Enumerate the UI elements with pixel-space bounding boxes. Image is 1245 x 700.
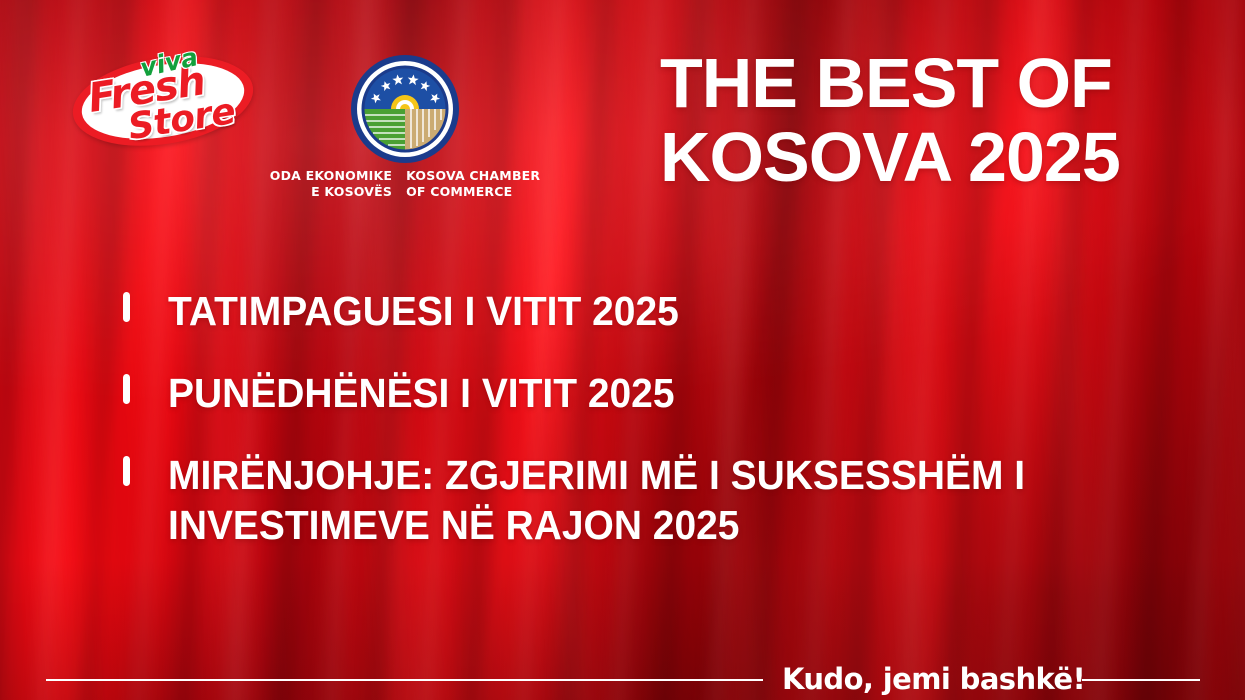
header-row: Fresh Store viva — [0, 0, 1245, 210]
chamber-caption-albanian-line2: E KOSOVËS — [270, 184, 392, 200]
kosova-chamber-of-commerce-logo: ODA EKONOMIKE E KOSOVËS KOSOVA CHAMBER O… — [286, 54, 524, 199]
chamber-emblem-icon — [350, 54, 460, 164]
page-title-line-1: THE BEST OF — [660, 46, 1220, 120]
bullet-bar-icon — [123, 374, 130, 404]
award-label: PUNËDHËNËSI I VITIT 2025 — [168, 368, 675, 418]
chamber-caption-english-line2: OF COMMERCE — [406, 184, 540, 200]
bullet-bar-icon — [123, 292, 130, 322]
footer: Kudo, jemi bashkë! — [0, 624, 1245, 700]
chamber-caption-albanian: ODA EKONOMIKE E KOSOVËS — [270, 168, 399, 200]
viva-fresh-store-logo: Fresh Store viva — [72, 44, 254, 156]
awards-list: TATIMPAGUESI I VITIT 2025 PUNËDHËNËSI I … — [120, 286, 1180, 582]
promotional-poster: Fresh Store viva — [0, 0, 1245, 700]
footer-rule-left — [46, 679, 763, 681]
list-item: MIRËNJOHJE: ZGJERIMI MË I SUKSESSHËM I I… — [120, 450, 1180, 550]
award-label: TATIMPAGUESI I VITIT 2025 — [168, 286, 679, 336]
page-title: THE BEST OF KOSOVA 2025 — [660, 46, 1220, 194]
list-item: PUNËDHËNËSI I VITIT 2025 — [120, 368, 1180, 418]
footer-tagline: Kudo, jemi bashkë! — [782, 660, 1085, 698]
footer-rule-right — [1082, 679, 1200, 681]
list-item: TATIMPAGUESI I VITIT 2025 — [120, 286, 1180, 336]
page-title-line-2: KOSOVA 2025 — [660, 120, 1220, 194]
bullet-bar-icon — [123, 456, 130, 486]
chamber-caption-albanian-line1: ODA EKONOMIKE — [270, 168, 392, 184]
chamber-caption: ODA EKONOMIKE E KOSOVËS KOSOVA CHAMBER O… — [286, 168, 524, 200]
award-label: MIRËNJOHJE: ZGJERIMI MË I SUKSESSHËM I I… — [168, 450, 1129, 550]
chamber-caption-english: KOSOVA CHAMBER OF COMMERCE — [399, 168, 540, 200]
chamber-caption-english-line1: KOSOVA CHAMBER — [406, 168, 540, 184]
